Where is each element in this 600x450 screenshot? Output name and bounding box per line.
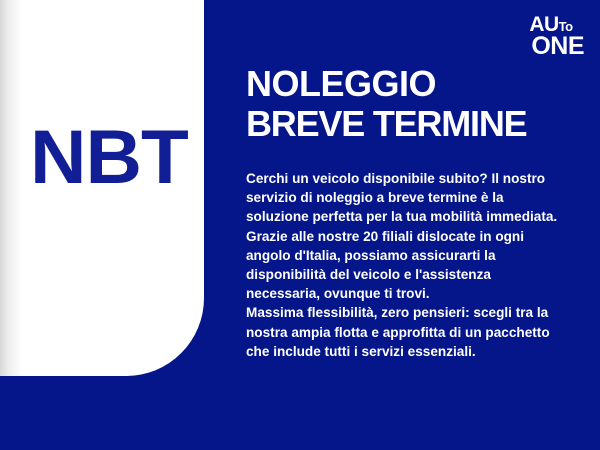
logo-one-main: O (531, 32, 550, 60)
body-paragraph-1: Cerchi un veicolo disponibile subito? Il… (246, 169, 562, 227)
body-copy: Cerchi un veicolo disponibile subito? Il… (246, 169, 562, 361)
headline: NOLEGGIO BREVE TERMINE (246, 64, 590, 144)
nbt-wordmark: NBT (30, 120, 188, 196)
promo-slide: NBT AUTo ONE NOLEGGIO BREVE TERMINE Cerc… (0, 0, 600, 450)
body-paragraph-3: Massima flessibilità, zero pensieri: sce… (246, 303, 562, 361)
logo-line-one: ONE (531, 34, 584, 59)
autoone-logo: AUTo ONE (529, 14, 584, 59)
body-paragraph-2: Grazie alle nostre 20 filiali dislocate … (246, 227, 562, 304)
content-column: NOLEGGIO BREVE TERMINE Cerchi un veicolo… (246, 0, 590, 450)
logo-one-rest: NE (550, 32, 584, 60)
headline-line-1: NOLEGGIO (246, 64, 590, 104)
headline-line-2: BREVE TERMINE (246, 104, 590, 144)
